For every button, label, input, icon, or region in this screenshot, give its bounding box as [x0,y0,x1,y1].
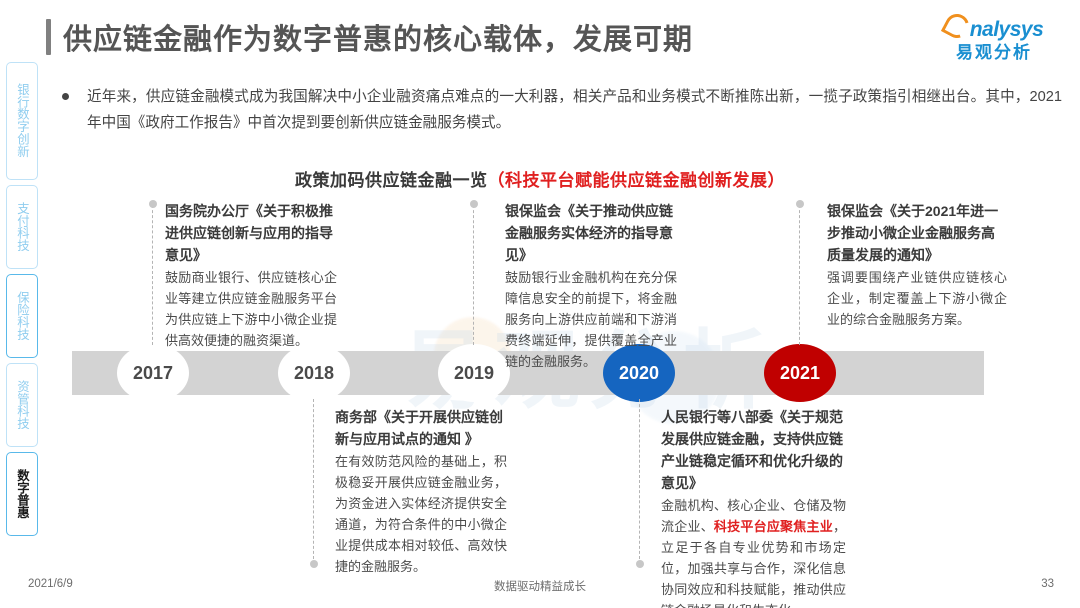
page-title: 供应链金融作为数字普惠的核心载体，发展可期 [46,16,693,58]
chart-title-main: 政策加码供应链金融一览 [295,171,488,190]
card-title: 银保监会《关于2021年进一步推动小微企业金融服务高质量发展的通知》 [827,200,1007,266]
footer: 2021/6/9 数据驱动精益成长 33 [0,578,1080,594]
connector-dot-2017 [149,200,157,208]
connector-2018 [313,399,314,564]
sidebar-item-bank-digital-innovation[interactable]: 银行数字创新 [6,62,38,180]
timeline-card-2021: 银保监会《关于2021年进一步推动小微企业金融服务高质量发展的通知》 强调要围绕… [827,200,1007,330]
timeline-node-2019[interactable]: 2019 [438,344,510,402]
timeline-card-2019: 银保监会《关于推动供应链金融服务实体经济的指导意见》 鼓励银行业金融机构在充分保… [505,200,677,372]
sidebar-item-label: 保险科技 [14,291,31,341]
card-title: 商务部《关于开展供应链创新与应用试点的通知 》 [335,406,507,450]
logo-wordmark: nalysys [970,19,1044,40]
footer-page-number: 33 [1041,578,1054,590]
card-title: 银保监会《关于推动供应链金融服务实体经济的指导意见》 [505,200,677,266]
connector-dot-2020 [636,560,644,568]
connector-dot-2018 [310,560,318,568]
connector-2017 [152,205,153,345]
logo-mark-icon [940,10,972,42]
timeline-node-label: 2021 [780,363,820,384]
sidebar-item-payment-tech[interactable]: 支付科技 [6,185,38,269]
title-accent-bar [46,19,51,55]
timeline-node-2017[interactable]: 2017 [117,344,189,402]
connector-dot-2021 [796,200,804,208]
timeline-node-2021[interactable]: 2021 [764,344,836,402]
card-title: 国务院办公厅《关于积极推进供应链创新与应用的指导意见》 [165,200,337,266]
connector-dot-2019 [470,200,478,208]
sidebar-item-label: 数字普惠 [14,469,31,519]
bullet-dot-icon [62,93,69,100]
analysys-logo: nalysys 易观分析 [930,14,1058,61]
sidebar-item-label: 支付科技 [14,202,31,252]
connector-2020 [639,399,640,564]
timeline-node-label: 2018 [294,363,334,384]
sidebar-item-insurance-tech[interactable]: 保险科技 [6,274,38,358]
chart-title-parenthetical: （科技平台赋能供应链金融创新发展） [488,171,786,190]
timeline-node-label: 2019 [454,363,494,384]
timeline-card-2017: 国务院办公厅《关于积极推进供应链创新与应用的指导意见》 鼓励商业银行、供应链核心… [165,200,337,351]
logo-chinese-name: 易观分析 [930,44,1058,61]
intro-bullet: 近年来，供应链金融模式成为我国解决中小企业融资痛点难点的一大利器，相关产品和业务… [62,84,1062,136]
card-body: 在有效防范风险的基础上，积极稳妥开展供应链金融业务，为资金进入实体经济提供安全通… [335,451,507,577]
footer-slogan: 数据驱动精益成长 [0,578,1080,594]
card-title: 人民银行等八部委《关于规范发展供应链金融，支持供应链产业链稳定循环和优化升级的意… [661,406,846,494]
card-body: 强调要围绕产业链供应链核心企业，制定覆盖上下游小微企业的综合金融服务方案。 [827,267,1007,330]
connector-2021 [799,205,800,345]
sidebar-item-label: 银行数字创新 [14,83,31,157]
slide: 易观分析 供应链金融作为数字普惠的核心载体，发展可期 nalysys 易观分析 … [0,0,1080,608]
sidebar-item-label: 资管科技 [14,380,31,430]
card-body: 鼓励银行业金融机构在充分保障信息安全的前提下，将金融服务向上游供应前端和下游消费… [505,267,677,372]
timeline-node-2018[interactable]: 2018 [278,344,350,402]
title-text: 供应链金融作为数字普惠的核心载体，发展可期 [63,16,693,58]
sidebar-tabs: 银行数字创新 支付科技 保险科技 资管科技 数字普惠 [6,62,40,541]
sidebar-item-digital-inclusive-finance[interactable]: 数字普惠 [6,452,38,536]
timeline-card-2018: 商务部《关于开展供应链创新与应用试点的通知 》 在有效防范风险的基础上，积极稳妥… [335,406,507,577]
card-body-highlight: 科技平台应聚焦主业 [714,519,833,534]
chart-title: 政策加码供应链金融一览（科技平台赋能供应链金融创新发展） [0,166,1080,191]
connector-2019 [473,205,474,345]
timeline-node-label: 2017 [133,363,173,384]
intro-bullet-text: 近年来，供应链金融模式成为我国解决中小企业融资痛点难点的一大利器，相关产品和业务… [87,84,1062,136]
sidebar-item-asset-management-tech[interactable]: 资管科技 [6,363,38,447]
card-body: 鼓励商业银行、供应链核心企业等建立供应链金融服务平台为供应链上下游中小微企业提供… [165,267,337,351]
